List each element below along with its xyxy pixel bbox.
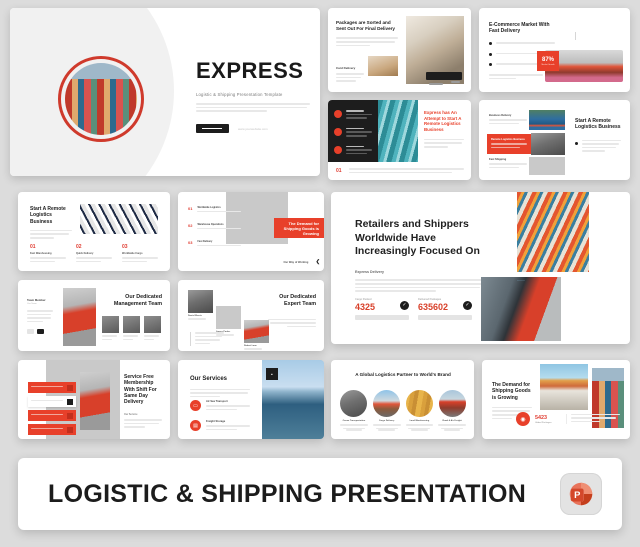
stat-item: 01 Fast Warehousing <box>30 244 66 264</box>
express-attempt-title: Express has An Attempt to Start A Remote… <box>424 110 464 133</box>
expert-member-3[interactable]: Robert Lane <box>244 320 269 351</box>
service-row-list <box>28 382 76 435</box>
stat-number: 02 <box>76 244 112 250</box>
slide-hero[interactable]: EXPRESS Logistic & Shipping Presentation… <box>10 8 320 176</box>
slide-express-attempt[interactable]: Express has An Attempt to Start A Remote… <box>328 100 471 180</box>
member-card[interactable] <box>123 316 140 342</box>
packages-body <box>336 37 398 46</box>
box-icon: ▭ <box>190 400 201 411</box>
packages-sub-label: Card Delivery <box>336 66 364 70</box>
member-name: Daniel Morris <box>188 315 213 317</box>
express-footer-number: 01 <box>336 168 342 174</box>
aerial-container-port-photo <box>517 192 589 272</box>
ecommerce-badge: 87% Market Growth <box>537 51 559 71</box>
team-photo <box>531 133 565 155</box>
stat-item: 02 Quick Delivery <box>76 244 112 264</box>
warehouse-photo <box>529 157 565 175</box>
slide-management-team[interactable]: Team Member Our Team Our Dedicated Manag… <box>18 280 170 351</box>
service-row[interactable] <box>28 410 76 421</box>
retailers-body <box>355 279 485 292</box>
slide-retailers-shippers[interactable]: Retailers and Shippers Worldwide Have In… <box>331 192 630 344</box>
start-remote-card-2: Remote Logistics Business <box>487 134 531 154</box>
our-services-items: ▭ Air Sea Transport ▤ Freight Storage <box>190 400 250 432</box>
partner-label: Cargo Delivery <box>373 420 401 422</box>
stat-item: 03 Worldwide Cargo <box>122 244 158 264</box>
stat-label: Global Packages <box>535 422 561 424</box>
hero-body-text <box>196 103 310 112</box>
demand-shipping-callout: The Demand for Shipping Goods is Growing <box>274 218 324 238</box>
check-icon: ✓ <box>463 301 472 310</box>
service-item-label: Air Sea Transport <box>206 400 250 403</box>
express-dark-panel <box>328 100 378 162</box>
arrow-icon: ❮ <box>316 259 320 265</box>
check-icon: ✓ <box>400 301 409 310</box>
demand-growing-title: The Demand for Shipping Goods is Growing <box>492 382 532 401</box>
expert-member-1[interactable]: Daniel Morris <box>188 290 213 322</box>
stat-number: 03 <box>122 244 158 250</box>
item-number: 03 <box>188 240 192 248</box>
next-button[interactable] <box>37 329 44 334</box>
service-free-title: Service Free Membership With Shift For S… <box>124 374 162 405</box>
presentation-preview-canvas: EXPRESS Logistic & Shipping Presentation… <box>0 0 640 547</box>
slide-start-remote-business-a[interactable]: Business Delivery Remote Logistics Busin… <box>479 100 630 180</box>
mgmt-title: Our Dedicated Management Team <box>102 294 162 308</box>
packages-title: Packages are Sorted and Sent Out For Fin… <box>336 20 398 31</box>
service-item[interactable]: ▭ Air Sea Transport <box>190 400 250 412</box>
worker-photo-caption: ——— <box>517 279 525 282</box>
glass-building-photo <box>378 100 418 162</box>
mgmt-side-sub: Our Team <box>27 303 53 305</box>
stat-value: 4325 <box>355 302 375 312</box>
partner-label: Land Warehousing <box>406 420 434 422</box>
member-card[interactable] <box>102 316 119 342</box>
global-partner-items: Ocean Transportation Cargo Delivery Land… <box>340 390 466 431</box>
service-item-label: Freight Storage <box>206 420 250 423</box>
demand-footer-label: Our Way of Working <box>284 261 309 264</box>
slide-expert-team[interactable]: Daniel Morris James Parker Robert Lane O… <box>178 280 324 351</box>
member-card[interactable] <box>144 316 161 342</box>
start-remote-b-title: Start A Remote Logistics Business <box>30 206 72 225</box>
footer-banner: LOGISTIC & SHIPPING PRESENTATION P <box>18 458 622 530</box>
service-row[interactable] <box>28 424 76 435</box>
delivery-worker-photo <box>481 277 561 341</box>
badge-value: 87% <box>542 57 554 63</box>
warehouse-conveyor-photo <box>80 204 158 234</box>
partner-label: Ocean Transportation <box>340 420 368 422</box>
hero-ring-outline <box>58 56 144 142</box>
staff-person-photo <box>80 372 110 430</box>
start-remote-stats: 01 Fast Warehousing 02 Quick Delivery 03… <box>30 244 158 264</box>
expert-body <box>190 332 224 346</box>
expert-title: Our Dedicated Expert Team <box>268 294 316 308</box>
our-services-logo-badge: ■ <box>266 368 278 380</box>
powerpoint-icon[interactable]: P <box>560 473 602 515</box>
start-remote-title: Start A Remote Logistics Business <box>575 118 621 131</box>
bullet-icon <box>489 53 492 56</box>
hero-button-note: www.yourwebsite.com <box>238 127 268 131</box>
service-row-active[interactable] <box>28 396 76 407</box>
stat-label: Cargo Packed <box>355 298 375 301</box>
ecommerce-title: E-Commerce Market With Fast Delivery <box>489 22 553 35</box>
ecommerce-footnote <box>489 74 543 81</box>
hero-image-ring <box>58 56 144 142</box>
service-sub-label: Our Service <box>124 413 162 416</box>
card-label: Business Delivery <box>489 114 527 117</box>
demand-growing-stat: ◉ 5423 Global Packages <box>516 412 620 426</box>
start-remote-card-1: Business Delivery <box>489 114 527 126</box>
page-title: EXPRESS <box>196 58 310 84</box>
service-item[interactable]: ▤ Freight Storage <box>190 420 250 432</box>
ecommerce-divider <box>575 32 576 40</box>
partner-item[interactable]: Road & Air Freight <box>438 390 466 431</box>
member-name: Robert Lane <box>244 345 269 347</box>
stat-value: 5423 <box>535 415 561 421</box>
retailers-subtitle: Express Delivery <box>355 270 485 274</box>
card-label: Fast Shipping <box>489 158 527 161</box>
package-box-photo <box>368 56 398 76</box>
item-label: Fast Delivery <box>197 240 246 243</box>
hero-text-block: EXPRESS Logistic & Shipping Presentation… <box>196 58 310 133</box>
partner-label: Road & Air Freight <box>438 420 466 422</box>
mgmt-side-label: Team Member <box>27 298 53 302</box>
demand-shipping-title: The Demand for Shipping Goods is Growing <box>279 221 319 237</box>
bullet-icon <box>489 42 492 45</box>
retailers-title: Retailers and Shippers Worldwide Have In… <box>355 218 485 259</box>
svg-text:P: P <box>574 490 580 500</box>
slide-start-remote-business-b[interactable]: Start A Remote Logistics Business 01 Fas… <box>18 192 170 271</box>
red-uniform-worker-photo <box>63 288 96 346</box>
stat-value: 635602 <box>418 302 448 312</box>
card-label: Remote Logistics Business <box>491 138 527 141</box>
badge-label: Market Growth <box>541 64 554 66</box>
slide-our-services[interactable]: Our Services ▭ Air Sea Transport ▤ Freig… <box>178 360 324 439</box>
item-number: 02 <box>188 223 192 231</box>
bullet-icon <box>489 63 492 66</box>
partner-item[interactable]: Ocean Transportation <box>340 390 368 431</box>
stat-label: Quick Delivery <box>76 252 112 255</box>
stat-number: 01 <box>30 244 66 250</box>
item-label: Worldwide Logistics <box>197 206 246 209</box>
packages-dark-caption-bar <box>426 72 462 80</box>
slide-ecommerce-market[interactable]: E-Commerce Market With Fast Delivery 87%… <box>479 8 630 92</box>
our-services-title: Our Services <box>190 376 250 384</box>
bridge-cargo-photo <box>540 364 588 410</box>
item-label: Warehouse Operations <box>197 223 246 226</box>
slide-service-free-membership[interactable]: Service Free Membership With Shift For S… <box>18 360 170 439</box>
slide-demand-shipping-a[interactable]: 01 Worldwide Logistics 02 Warehouse Oper… <box>178 192 324 271</box>
globe-icon: ◉ <box>516 412 530 426</box>
bullet-icon <box>575 142 578 145</box>
stat-label: Delivered Packages <box>418 298 448 301</box>
global-partner-title: A Global Logistics Partner to World's Br… <box>347 372 459 378</box>
speedboat-photo <box>529 110 565 130</box>
slide-demand-growing[interactable]: The Demand for Shipping Goods is Growing… <box>482 360 630 439</box>
mgmt-member-list <box>102 316 161 342</box>
slide-packages-sorted[interactable]: Packages are Sorted and Sent Out For Fin… <box>328 8 471 92</box>
start-remote-card-3: Fast Shipping <box>489 158 527 170</box>
partner-item[interactable]: Land Warehousing <box>406 390 434 431</box>
retailers-stats: Cargo Packed 4325 ✓ Delivered Packages 6… <box>355 298 472 320</box>
service-row[interactable] <box>28 382 76 393</box>
stat-label: Fast Warehousing <box>30 252 66 255</box>
prev-button[interactable] <box>27 329 34 334</box>
item-number: 01 <box>188 206 192 214</box>
hero-cta-button[interactable]: www.yourwebsite.com <box>196 124 229 133</box>
slide-global-partner[interactable]: A Global Logistics Partner to World's Br… <box>331 360 474 439</box>
demand-item-list: 01 Worldwide Logistics 02 Warehouse Oper… <box>188 206 246 248</box>
stat-label: Worldwide Cargo <box>122 252 158 255</box>
stat-card: Cargo Packed 4325 ✓ <box>355 298 409 320</box>
stat-card: Delivered Packages 635602 ✓ <box>418 298 472 320</box>
truck-icon: ▤ <box>190 420 201 431</box>
partner-item[interactable]: Cargo Delivery <box>373 390 401 431</box>
hero-subtitle: Logistic & Shipping Presentation Templat… <box>196 92 310 97</box>
banner-title: LOGISTIC & SHIPPING PRESENTATION <box>48 480 526 509</box>
